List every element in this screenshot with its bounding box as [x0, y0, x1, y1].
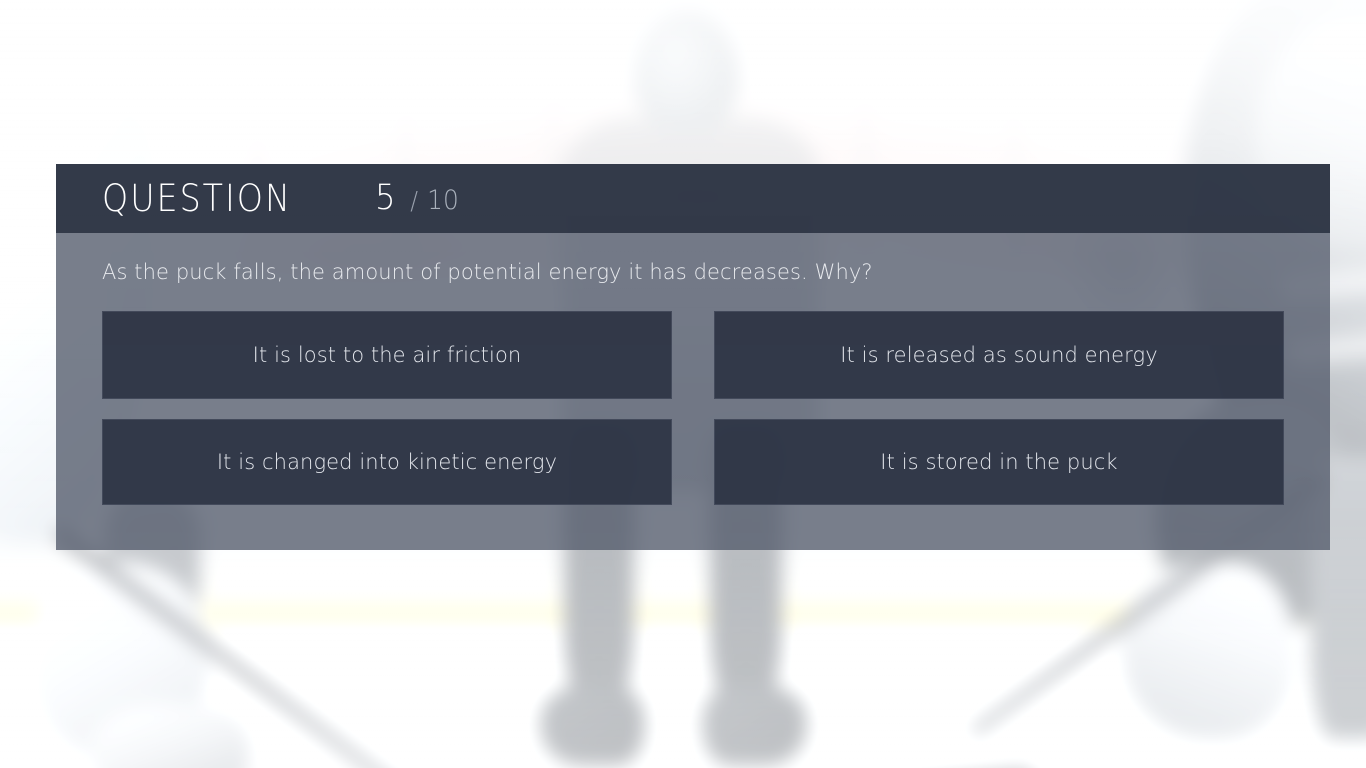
question-number-total: 10 — [427, 187, 459, 214]
answer-option-d[interactable]: It is stored in the puck — [714, 419, 1284, 505]
question-number-current: 5 — [375, 181, 395, 216]
player-center-skate-left — [540, 686, 645, 766]
question-label: QUESTION — [102, 180, 292, 217]
answer-options-grid: It is lost to the air friction It is rel… — [102, 311, 1284, 505]
answer-option-c[interactable]: It is changed into kinetic energy — [102, 419, 672, 505]
question-counter-separator: / — [410, 188, 418, 213]
quiz-screen: QUESTION 5 / 10 As the puck falls, the a… — [0, 0, 1366, 768]
quiz-header-bar: QUESTION 5 / 10 — [56, 164, 1330, 233]
faceoff-circle-mark — [921, 757, 1129, 768]
answer-option-a[interactable]: It is lost to the air friction — [102, 311, 672, 399]
quiz-card: QUESTION 5 / 10 As the puck falls, the a… — [56, 164, 1330, 550]
player-right-glove — [1121, 562, 1296, 740]
question-counter: 5 / 10 — [375, 181, 459, 216]
answer-option-b[interactable]: It is released as sound energy — [714, 311, 1284, 399]
quiz-body-panel: As the puck falls, the amount of potenti… — [56, 233, 1330, 550]
question-prompt: As the puck falls, the amount of potenti… — [102, 233, 1284, 285]
player-center-skate-right — [702, 686, 807, 766]
